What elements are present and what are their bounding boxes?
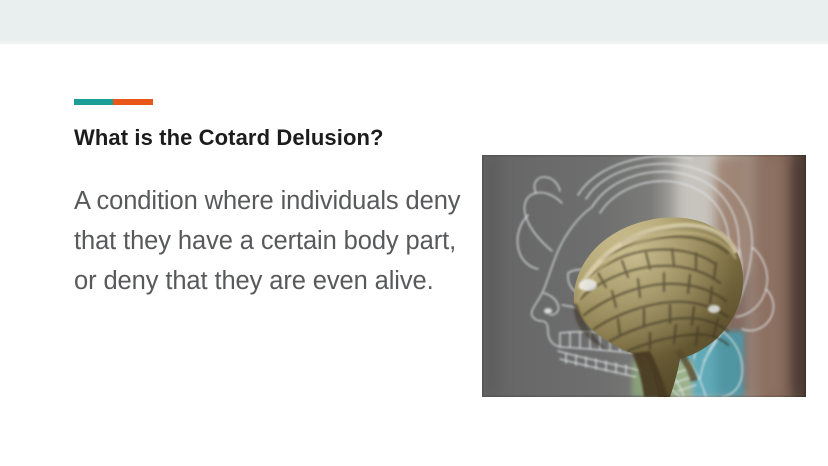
top-band	[0, 0, 828, 41]
accent-rule-teal-segment	[74, 99, 113, 105]
slide-content-area: What is the Cotard Delusion? A condition…	[0, 44, 828, 466]
accent-rule-orange-segment	[113, 99, 153, 105]
text-column: What is the Cotard Delusion? A condition…	[74, 99, 474, 301]
brain-anatomy-illustration	[482, 155, 806, 397]
brain-anatomy-image	[482, 155, 806, 397]
page-title: What is the Cotard Delusion?	[74, 125, 474, 151]
body-paragraph: A condition where individuals deny that …	[74, 181, 474, 301]
slide-root: What is the Cotard Delusion? A condition…	[0, 0, 828, 466]
accent-rule	[74, 99, 153, 105]
